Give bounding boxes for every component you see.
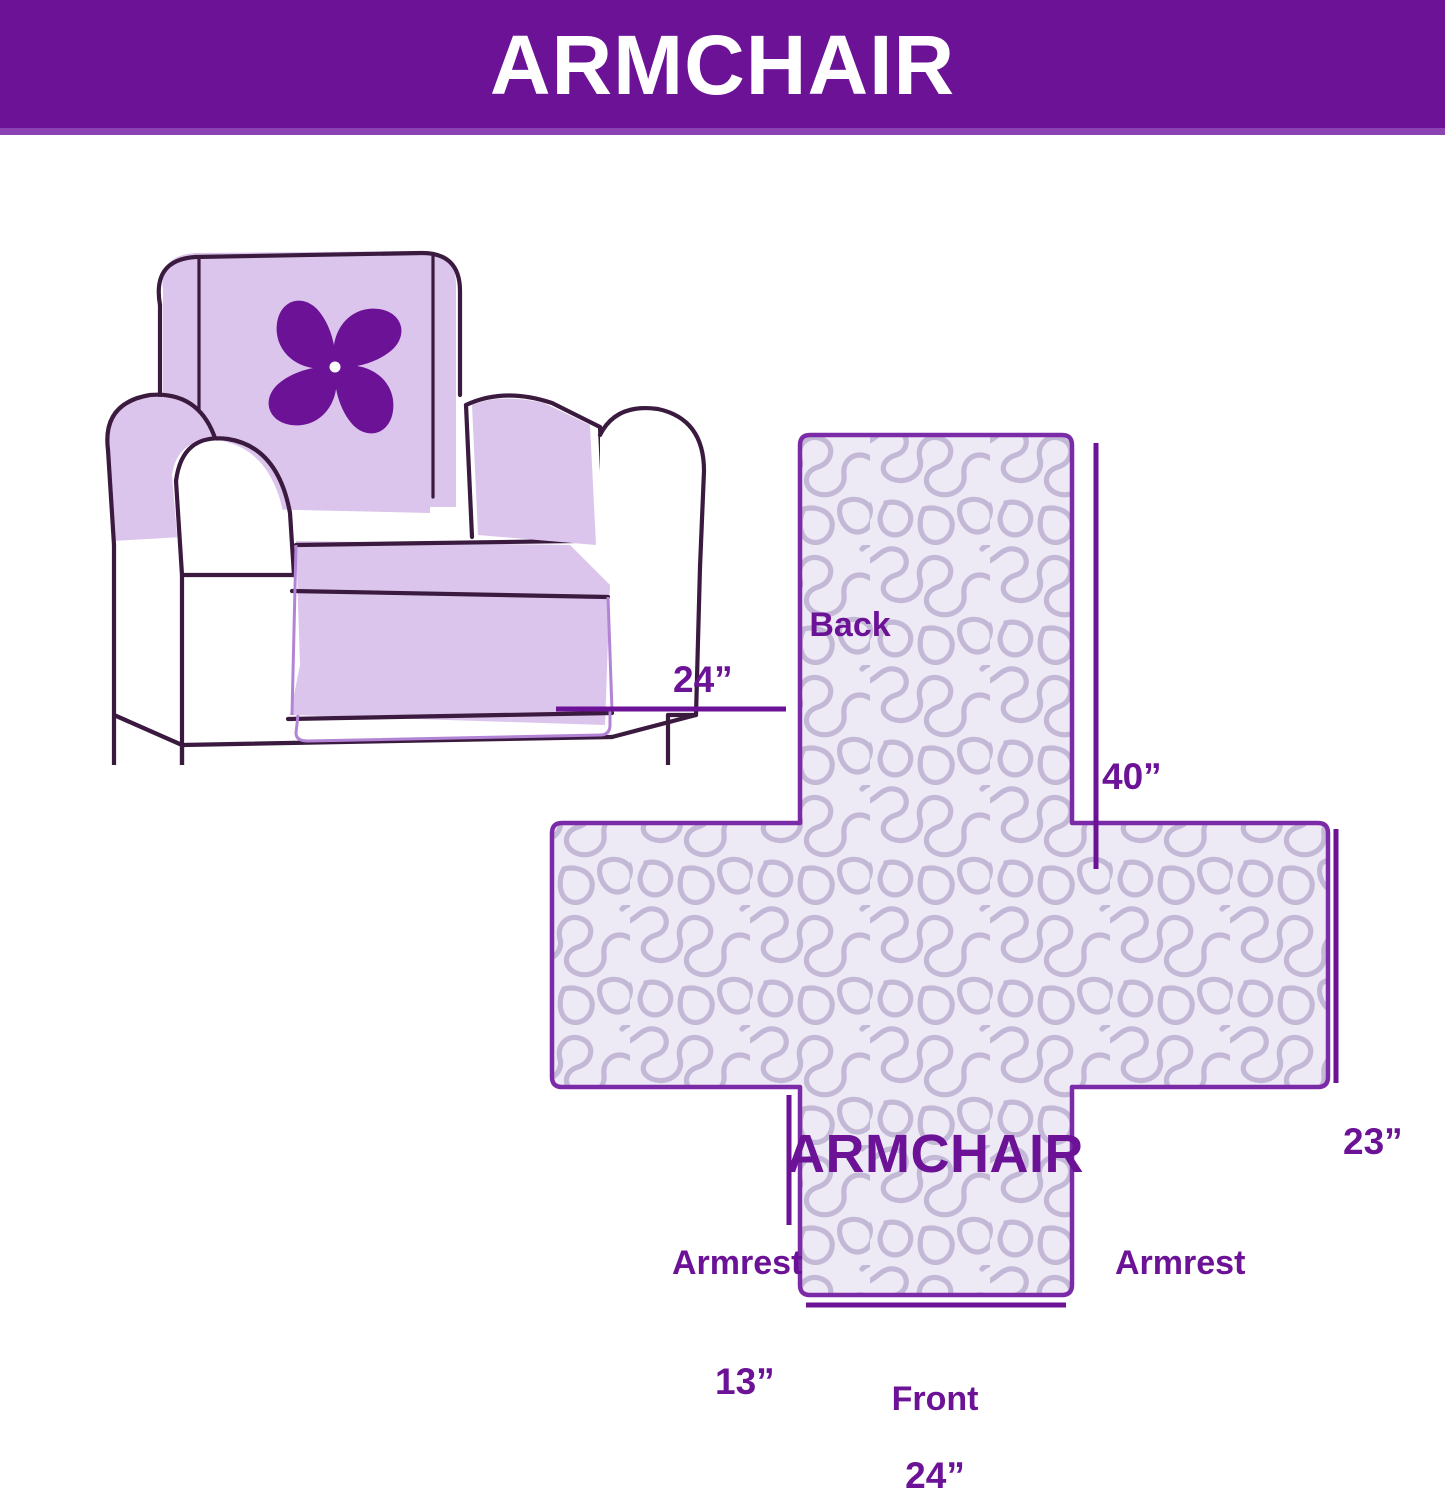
center-brand-label: ARMCHAIR bbox=[786, 1127, 1084, 1181]
header-underline-divider bbox=[0, 128, 1445, 135]
cover-layout-diagram: Back Armrest Armrest Front ARMCHAIR 40” … bbox=[510, 425, 1440, 1425]
panel-label-front: Front bbox=[892, 1382, 979, 1416]
panel-label-back: Back bbox=[809, 608, 890, 642]
panel-label-armrest-left: Armrest bbox=[672, 1246, 802, 1280]
diagram-stage: .ol { fill:none; stroke:#3a1a3e; stroke-… bbox=[0, 135, 1445, 1445]
panel-label-armrest-right: Armrest bbox=[1115, 1246, 1245, 1280]
dimension-label-back-width: 24” bbox=[673, 661, 733, 698]
page-title: ARMCHAIR bbox=[490, 23, 955, 107]
dimension-label-back-height: 40” bbox=[1102, 758, 1162, 795]
header-banner: ARMCHAIR bbox=[0, 0, 1445, 128]
dimension-label-armrest-height: 23” bbox=[1343, 1123, 1403, 1160]
dimension-label-front-height: 13” bbox=[715, 1363, 775, 1400]
dimension-label-front-width: 24” bbox=[905, 1457, 965, 1494]
